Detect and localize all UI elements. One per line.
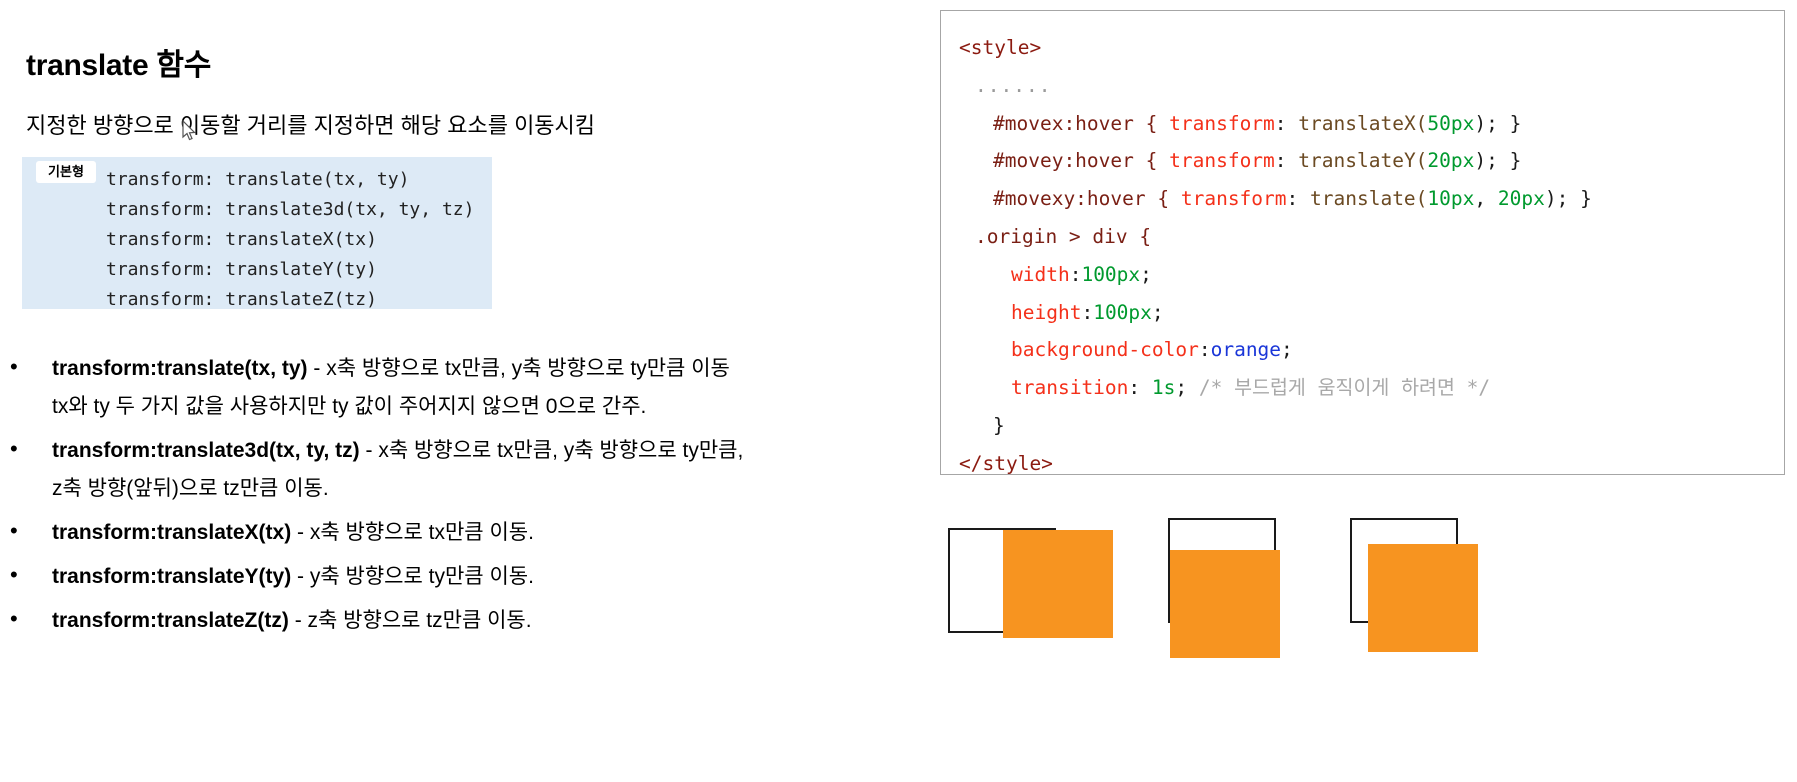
list-item: • transform:translate(tx, ty) - x축 방향으로 … [0, 350, 940, 426]
list-item: • transform:translate3d(tx, ty, tz) - x축… [0, 432, 940, 508]
code-token-colon: : [1128, 376, 1151, 399]
code-line-ellipsis: ...... [959, 67, 1784, 105]
code-token-colon: : [1199, 338, 1211, 361]
code-line-style-open: <style> [959, 29, 1784, 67]
mouse-cursor-icon [182, 120, 198, 142]
translated-orange-box [1170, 550, 1280, 658]
syntax-line-text: transform: translateX(tx) [106, 225, 377, 255]
list-item-lead: transform:translateX(tx) [52, 521, 291, 544]
translatey-demo [1168, 510, 1348, 685]
code-line-movexy: #movexy:hover { transform: translate(10p… [959, 180, 1784, 218]
code-token-brace: } [993, 414, 1005, 437]
syntax-line: transform: translateZ(tz) [22, 285, 492, 315]
code-token-function: translate( [1310, 187, 1427, 210]
code-line-transition: transition: 1s; /* 부드럽게 움직이게 하려면 */ [959, 369, 1784, 407]
syntax-line: transform: translateY(ty) [22, 255, 492, 285]
bullet-marker: • [10, 432, 18, 465]
list-item-rest: - x축 방향으로 tx만큼 이동. [291, 521, 534, 544]
code-token-property: transform [1169, 112, 1275, 135]
translate-xy-demo [1350, 510, 1530, 685]
code-token-value: 100px [1093, 301, 1152, 324]
code-token-colon: : [1287, 187, 1310, 210]
list-item-rest: - y축 방향으로 ty만큼 이동. [291, 565, 534, 588]
code-token-separator: , [1474, 187, 1497, 210]
code-token-value: 1s [1152, 376, 1175, 399]
code-token-comment: /* 부드럽게 움직이게 하려면 */ [1199, 376, 1490, 399]
list-item-continuation: z축 방향(앞뒤)으로 tz만큼 이동. [52, 470, 940, 508]
bullet-marker: • [10, 350, 18, 383]
code-token-property: transition [1011, 376, 1128, 399]
code-token-colon: : [1070, 263, 1082, 286]
code-line-close-brace: } [959, 407, 1784, 445]
list-item-rest: - x축 방향으로 tx만큼, y축 방향으로 ty만큼 이동 [308, 357, 730, 380]
code-token-semicolon: ; [1140, 263, 1152, 286]
list-item-lead: transform:translateY(ty) [52, 565, 291, 588]
syntax-line-text: transform: translateZ(tz) [106, 285, 377, 315]
code-token-semicolon: ; [1175, 376, 1187, 399]
bullet-list: • transform:translate(tx, ty) - x축 방향으로 … [0, 350, 940, 646]
code-token-value: 100px [1081, 263, 1140, 286]
list-item-main: transform:translate(tx, ty) - x축 방향으로 tx… [52, 350, 940, 388]
code-line-movey: #movey:hover { transform: translateY(20p… [959, 142, 1784, 180]
code-panel: <style> ...... #movex:hover { transform:… [940, 10, 1785, 475]
code-line-background-color: background-color:orange; [959, 331, 1784, 369]
code-line-width: width:100px; [959, 256, 1784, 294]
code-token-tag: </style> [959, 452, 1053, 475]
code-token-selector: #movexy:hover { [993, 187, 1169, 210]
code-token-close: ); } [1474, 112, 1521, 135]
code-line-height: height:100px; [959, 294, 1784, 332]
list-item-main: transform:translateY(ty) - y축 방향으로 ty만큼 … [52, 558, 940, 596]
code-token-property: height [1011, 301, 1081, 324]
code-line-origin-selector: .origin > div { [959, 218, 1784, 256]
code-token-value-2: 20px [1498, 187, 1545, 210]
list-item-rest: - x축 방향으로 tx만큼, y축 방향으로 ty만큼, [360, 439, 744, 462]
syntax-line: transform: translate(tx, ty) [22, 165, 492, 195]
code-token-property: background-color [1011, 338, 1199, 361]
code-line-style-close: </style> [959, 445, 1784, 475]
code-token-property: transform [1169, 149, 1275, 172]
list-item-main: transform:translateX(tx) - x축 방향으로 tx만큼 … [52, 514, 940, 552]
code-token-property: width [1011, 263, 1070, 286]
code-token-ellipsis: ...... [975, 74, 1051, 97]
code-token-selector: #movex:hover { [993, 112, 1157, 135]
translated-orange-box [1003, 530, 1113, 638]
intro-paragraph: 지정한 방향으로 이동할 거리를 지정하면 해당 요소를 이동시킴 [26, 108, 595, 140]
code-token-semicolon: ; [1152, 301, 1164, 324]
code-token-selector: #movey:hover { [993, 149, 1157, 172]
code-token-selector: .origin > div { [975, 225, 1151, 248]
syntax-line: transform: translateX(tx) [22, 225, 492, 255]
code-token-value-1: 10px [1427, 187, 1474, 210]
code-line-movex: #movex:hover { transform: translateX(50p… [959, 105, 1784, 143]
list-item-lead: transform:translateZ(tz) [52, 609, 289, 632]
code-token-keyword: orange [1211, 338, 1281, 361]
left-content-column: translate 함수 지정한 방향으로 이동할 거리를 지정하면 해당 요소… [0, 0, 940, 782]
syntax-line-text: transform: translate(tx, ty) [106, 165, 409, 195]
list-item: • transform:translateY(ty) - y축 방향으로 ty만… [0, 558, 940, 596]
list-item-lead: transform:translate3d(tx, ty, tz) [52, 439, 360, 462]
code-token-colon: : [1275, 112, 1298, 135]
code-token-tag: <style> [959, 36, 1041, 59]
bullet-marker: • [10, 514, 18, 547]
list-item: • transform:translateZ(tz) - z축 방향으로 tz만… [0, 602, 940, 640]
code-token-function: translateX( [1298, 112, 1427, 135]
syntax-box: 기본형 transform: translate(tx, ty) transfo… [22, 157, 492, 309]
bullet-marker: • [10, 558, 18, 591]
list-item-lead: transform:translate(tx, ty) [52, 357, 308, 380]
list-item-rest: - z축 방향으로 tz만큼 이동. [289, 609, 532, 632]
translatex-demo [948, 510, 1128, 685]
code-token-colon: : [1275, 149, 1298, 172]
syntax-line-text: transform: translate3d(tx, ty, tz) [106, 195, 474, 225]
code-token-close: ); } [1545, 187, 1592, 210]
code-token-colon: : [1081, 301, 1093, 324]
syntax-line-text: transform: translateY(ty) [106, 255, 377, 285]
list-item-main: transform:translate3d(tx, ty, tz) - x축 방… [52, 432, 940, 470]
list-item-main: transform:translateZ(tz) - z축 방향으로 tz만큼 … [52, 602, 940, 640]
code-token-function: translateY( [1298, 149, 1427, 172]
code-token-close: ); } [1474, 149, 1521, 172]
diagram-group [940, 510, 1797, 710]
syntax-line: transform: translate3d(tx, ty, tz) [22, 195, 492, 225]
list-item: • transform:translateX(tx) - x축 방향으로 tx만… [0, 514, 940, 552]
code-token-value: 20px [1427, 149, 1474, 172]
list-item-continuation: tx와 ty 두 가지 값을 사용하지만 ty 값이 주어지지 않으면 0으로 … [52, 388, 940, 426]
translated-orange-box [1368, 544, 1478, 652]
bullet-marker: • [10, 602, 18, 635]
code-token-property: transform [1181, 187, 1287, 210]
code-token-semicolon: ; [1281, 338, 1293, 361]
page-title: translate 함수 [26, 40, 211, 84]
code-token-value: 50px [1427, 112, 1474, 135]
right-content-column: <style> ...... #movex:hover { transform:… [940, 0, 1797, 782]
